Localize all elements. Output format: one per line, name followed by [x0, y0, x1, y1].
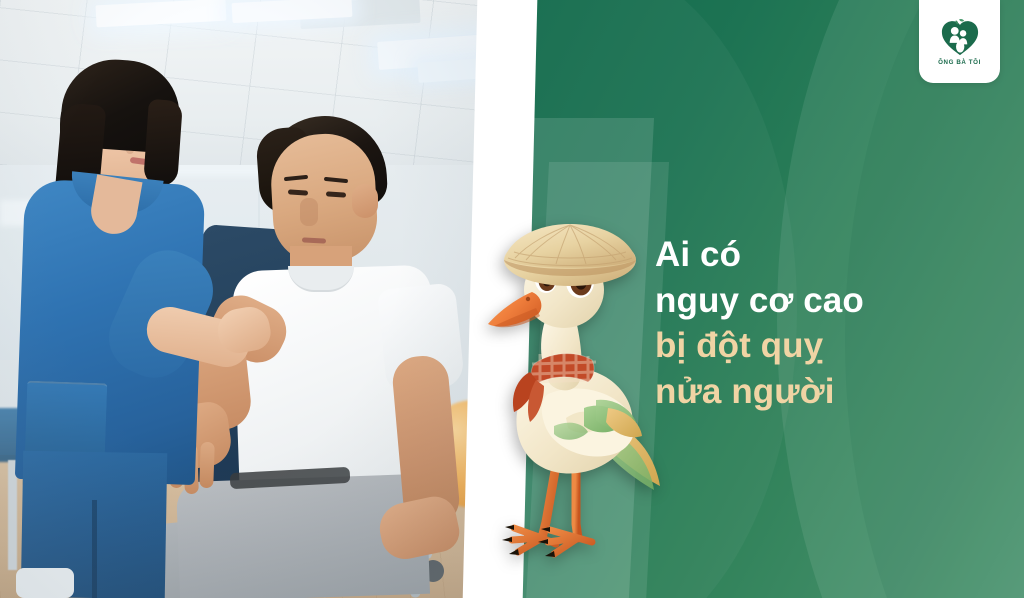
- headline-line-2: nguy cơ cao: [655, 278, 864, 324]
- headline: Ai có nguy cơ cao bị đột quỵ nửa người: [655, 232, 864, 414]
- mascot-conical-hat: [504, 224, 636, 286]
- headline-line-3: bị đột quỵ: [655, 323, 864, 369]
- stork-mascot: [484, 222, 664, 574]
- headline-line-1: Ai có: [655, 232, 864, 278]
- headline-line-4: nửa người: [655, 369, 864, 415]
- brand-logo[interactable]: ÔNG BÀ TÔI: [919, 0, 1000, 83]
- heart-family-icon: [940, 18, 980, 56]
- photo-vignette: [0, 0, 500, 598]
- mascot-beak: [488, 292, 541, 327]
- clinic-photo: [0, 0, 500, 598]
- health-awareness-banner: Ai có nguy cơ cao bị đột quỵ nửa người Ô…: [0, 0, 1024, 598]
- brand-name: ÔNG BÀ TÔI: [938, 59, 981, 66]
